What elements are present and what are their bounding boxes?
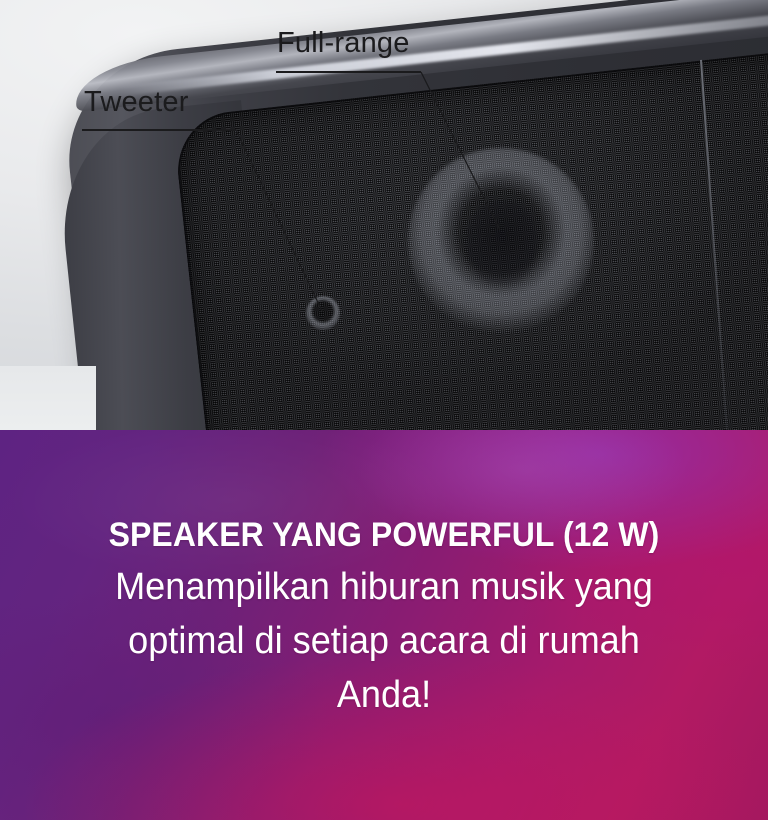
promo-body-line-2: optimal di setiap acara di rumah (19, 614, 749, 668)
promo-body-line-3: Anda! (19, 668, 749, 722)
promo-panel: SPEAKER YANG POWERFUL (12 W) Menampilkan… (0, 430, 768, 820)
callout-label-full-range: Full-range (277, 27, 410, 60)
promo-body: Menampilkan hiburan musik yang optimal d… (19, 560, 749, 722)
full-range-driver-core (466, 200, 538, 286)
photo-floor-wedge (0, 366, 96, 430)
promo-headline: SPEAKER YANG POWERFUL (12 W) (23, 516, 745, 555)
product-photo: Tweeter Full-range (0, 0, 768, 430)
callout-label-tweeter: Tweeter (84, 86, 189, 119)
promo-body-line-1: Menampilkan hiburan musik yang (19, 560, 749, 614)
tweeter-driver-icon (306, 296, 340, 330)
product-feature-banner: Tweeter Full-range SPEAKER YANG POWERFUL… (0, 0, 768, 820)
